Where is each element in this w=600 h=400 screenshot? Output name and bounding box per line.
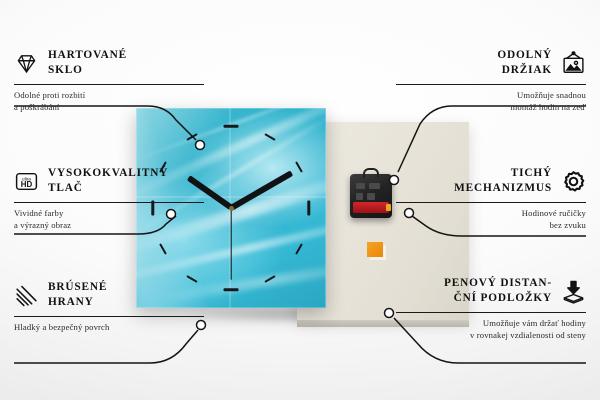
movement-hanger <box>363 168 379 178</box>
feature-description: Hodinové ručičky bez zvuku <box>396 207 586 231</box>
feature-divider <box>14 316 204 317</box>
feature-description: Vividné farby a výrazný obraz <box>14 207 204 231</box>
press-down-pad-icon <box>561 279 586 304</box>
movement-detail <box>356 183 365 189</box>
hour-tick-major <box>308 201 311 216</box>
feature-divider <box>396 84 586 85</box>
svg-text:HD: HD <box>21 180 33 189</box>
feature-quiet-mechanism[interactable]: TICHÝ MECHANIZMUS Hodinové ručičky bez z… <box>396 166 586 231</box>
minute-hand <box>230 171 293 211</box>
foam-spacer-pad <box>367 242 383 257</box>
feature-title: HARTOVANÉ SKLO <box>48 48 127 79</box>
infographic-stage: HARTOVANÉ SKLO Odolné proti rozbití a po… <box>0 0 600 400</box>
hanging-picture-icon <box>561 51 586 76</box>
feature-heading: PENOVÝ DISTAN- ČNÍ PODLOŽKY <box>396 276 586 307</box>
feature-divider <box>396 202 586 203</box>
hour-tick-major <box>224 289 239 292</box>
feature-divider <box>396 312 586 313</box>
hour-tick <box>186 133 197 141</box>
movement-detail <box>356 193 363 200</box>
feature-title: VYSOKOKVALITNÝ TLAČ <box>48 166 168 197</box>
clock-hub <box>229 206 234 211</box>
feature-divider <box>14 202 204 203</box>
ultra-hd-icon: ultra HD <box>14 169 39 194</box>
feature-heading: HARTOVANÉ SKLO <box>14 48 204 79</box>
feature-hardened-glass[interactable]: HARTOVANÉ SKLO Odolné proti rozbití a po… <box>14 48 204 113</box>
feature-title: TICHÝ MECHANIZMUS <box>454 166 552 197</box>
feature-polished-edges[interactable]: BRÚSENÉ HRANY Hladký a bezpečný povrch <box>14 280 204 333</box>
feature-heading: ultra HD VYSOKOKVALITNÝ TLAČ <box>14 166 204 197</box>
diamond-icon <box>14 51 39 76</box>
hour-tick-major <box>224 125 239 128</box>
hour-tick <box>264 275 275 283</box>
feature-heading: TICHÝ MECHANIZMUS <box>396 166 586 197</box>
feature-title: ODOLNÝ DRŽIAK <box>497 48 552 79</box>
feature-description: Hladký a bezpečný povrch <box>14 321 204 333</box>
feature-title: PENOVÝ DISTAN- ČNÍ PODLOŽKY <box>444 276 552 307</box>
feature-description: Umožňuje snadnou montáž hodin na zeď <box>396 89 586 113</box>
second-hand <box>230 208 231 280</box>
hour-tick <box>295 161 303 172</box>
movement-detail <box>367 193 375 200</box>
gear-icon <box>561 169 586 194</box>
feature-heading: ODOLNÝ DRŽIAK <box>396 48 586 79</box>
feature-durable-holder[interactable]: ODOLNÝ DRŽIAK Umožňuje snadnou montáž ho… <box>396 48 586 113</box>
feature-title: BRÚSENÉ HRANY <box>48 280 107 311</box>
feature-description: Umožňuje vám držať hodiny v rovnakej vzd… <box>396 317 586 341</box>
feature-description: Odolné proti rozbití a poškrábání <box>14 89 204 113</box>
hour-tick <box>160 243 168 254</box>
diagonal-lines-icon <box>14 283 39 308</box>
feature-high-quality-print[interactable]: ultra HD VYSOKOKVALITNÝ TLAČ Vividné far… <box>14 166 204 231</box>
feature-foam-spacers[interactable]: PENOVÝ DISTAN- ČNÍ PODLOŽKY Umožňuje vám… <box>396 276 586 341</box>
feature-heading: BRÚSENÉ HRANY <box>14 280 204 311</box>
movement-detail <box>369 183 380 189</box>
movement-battery <box>353 202 389 213</box>
hour-tick <box>295 243 303 254</box>
feature-divider <box>14 84 204 85</box>
clock-movement <box>350 174 392 218</box>
hour-tick <box>264 133 275 141</box>
